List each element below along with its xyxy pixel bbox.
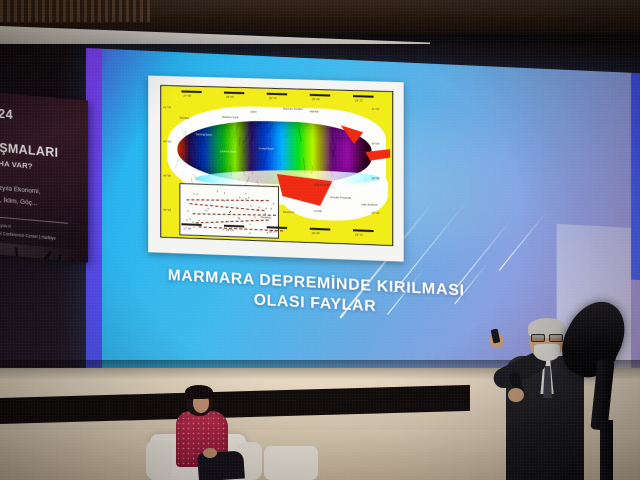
banner-topic-line-1: i Yüzyıla Ekonomi,	[0, 184, 40, 196]
inset-symbol	[208, 208, 209, 209]
inset-symbol	[239, 197, 240, 198]
inset-symbol	[270, 208, 271, 209]
map-frame: 27°3627°3628°0028°0028°2428°2428°4828°48…	[160, 85, 393, 246]
bathymetry-contour	[326, 172, 327, 177]
map-place-label: Gemlik	[314, 210, 322, 213]
map-place-label: Tekirdağ	[179, 117, 189, 120]
inset-fault-line	[186, 199, 268, 201]
map-lon-tick: 28°24	[269, 97, 277, 100]
inset-symbol	[245, 198, 246, 199]
panelist-hair	[185, 385, 213, 399]
inset-symbol	[230, 221, 231, 222]
map-lat-tick-right: 41°00	[372, 108, 380, 111]
inset-symbol	[196, 193, 197, 194]
map-lon-tick: 28°00	[226, 96, 234, 99]
map-lat-tick-right: 40°48	[372, 142, 380, 145]
map-place-label: Çınarcık Basin	[220, 150, 237, 154]
screen-left-color-band	[86, 48, 102, 389]
inset-symbol	[250, 206, 251, 207]
map-lat-tick-right: 40°24	[372, 212, 380, 215]
map-place-label: Central Basin	[259, 147, 274, 151]
inset-symbol	[206, 210, 207, 211]
map-lon-tick: 28°24	[269, 231, 277, 234]
map-lon-tick: 29°12	[355, 99, 363, 102]
map-lat-tick-right: 40°36	[372, 177, 380, 180]
slide-map-image: 27°3627°3628°0028°0028°2428°2428°4828°48…	[148, 76, 404, 262]
bathymetry-contour	[218, 158, 224, 169]
inset-symbol	[230, 211, 231, 212]
inset-symbol	[265, 208, 266, 209]
inset-symbol	[264, 213, 265, 214]
banner-footer-line-1: ...ersiyon-II	[0, 222, 11, 229]
microphone-stand	[600, 420, 613, 480]
map-place-label: Mudanya	[261, 216, 272, 219]
inset-symbol	[224, 193, 225, 194]
bathymetry-contour	[242, 144, 247, 154]
inset-symbol	[259, 207, 260, 208]
map-place-label: Armutlu Peninsula	[330, 196, 351, 200]
inset-symbol	[205, 227, 206, 228]
inset-symbol	[257, 208, 258, 209]
banner-tag: T24	[0, 106, 13, 122]
inset-symbol	[189, 218, 190, 219]
inset-symbol	[187, 220, 188, 221]
map-lat-tick-left: 40°24	[163, 209, 171, 212]
map-place-label: Bandırma	[283, 211, 294, 214]
bathymetry-contour	[219, 137, 221, 151]
inset-symbol	[249, 232, 250, 233]
bathymetry-contour	[226, 124, 230, 138]
banner-heading: LUŞMALARI	[0, 139, 58, 160]
inset-symbol	[229, 212, 230, 213]
speaker-beard	[534, 344, 560, 361]
bathymetry-contour	[234, 136, 235, 142]
bathymetry-contour	[263, 154, 267, 168]
map-place-label: Ganos Fault	[171, 171, 185, 174]
inset-symbol	[217, 191, 218, 192]
bathymetry-contour	[298, 128, 302, 142]
bathymetry-contour	[198, 168, 199, 173]
map-place-label: Tekirdağ Basin	[196, 133, 213, 137]
map-lon-tick: 27°36	[183, 228, 191, 231]
inset-symbol	[187, 211, 188, 212]
map-lon-tick: 28°48	[312, 98, 320, 101]
bathymetry-contour	[252, 130, 255, 140]
bathymetry-contour	[285, 133, 287, 137]
inset-symbol	[226, 221, 227, 222]
map-bathymetry	[177, 119, 371, 188]
banner-divider	[0, 216, 68, 224]
map-place-label: Marmara Ereğlisi	[283, 107, 302, 111]
inset-symbol	[192, 221, 193, 222]
armchair-left-armrest	[146, 440, 172, 480]
map-lon-tick: 27°36	[183, 95, 191, 98]
inset-symbol	[238, 217, 239, 218]
inset-symbol	[246, 194, 247, 195]
map-lon-tick: 29°12	[355, 234, 363, 237]
map-lat-tick-left: 40°48	[163, 140, 171, 143]
inset-symbol	[199, 220, 200, 221]
event-banner: T24 LUŞMALARI L DAHA VAR? i Yüzyıla Ekon…	[0, 91, 88, 262]
map-place-label: Silivri	[250, 111, 256, 114]
map-place-label: Northern Shelf	[222, 116, 238, 119]
inset-symbol	[193, 193, 194, 194]
inset-symbol	[261, 201, 262, 202]
inset-symbol	[273, 204, 274, 205]
bathymetry-contour	[192, 141, 195, 154]
inset-symbol	[194, 226, 195, 227]
map-place-label: İstanbul	[310, 110, 319, 113]
map-lat-tick-left: 40°36	[163, 174, 171, 177]
armchair-right	[264, 446, 318, 480]
inset-symbol	[223, 229, 224, 230]
glasses-icon	[531, 334, 563, 340]
bathymetry-contour	[335, 155, 337, 161]
bathymetry-contour	[238, 137, 240, 146]
decorative-streak	[499, 209, 549, 271]
bathymetry-contour	[280, 154, 282, 167]
inset-symbol	[249, 197, 250, 198]
banner-footer-line-2: ...onal Conference Center | Harbiye	[0, 230, 56, 241]
map-place-label: CMB	[248, 155, 254, 158]
map-lon-tick: 28°48	[312, 232, 320, 235]
map-place-label: Lake Apolyont	[361, 203, 377, 207]
bathymetry-contour	[252, 172, 253, 175]
speaker-mic-hand	[508, 388, 524, 402]
panelist-hand	[203, 448, 217, 458]
inset-fault-line	[190, 203, 266, 211]
map-lon-tick: 28°00	[226, 229, 234, 232]
map-lat-tick-left: 41°00	[163, 106, 171, 109]
inset-symbol	[254, 217, 255, 218]
inset-fault-line	[196, 220, 269, 224]
banner-subheading: L DAHA VAR?	[0, 157, 33, 171]
banner-topic-line-2: ünya, İklim, Göç...	[0, 196, 37, 207]
inset-symbol	[224, 201, 225, 202]
map-place-label: Gulf of İzmit	[334, 137, 348, 140]
ceiling-grille	[0, 0, 150, 22]
bathymetry-contour	[227, 122, 229, 125]
inset-symbol	[249, 224, 250, 225]
conference-photo-scene: 27°3627°3628°0028°0028°2428°2428°4828°48…	[0, 0, 640, 480]
bathymetry-contour	[216, 155, 220, 161]
map-place-label: Gulf of Gemlik	[314, 183, 330, 187]
